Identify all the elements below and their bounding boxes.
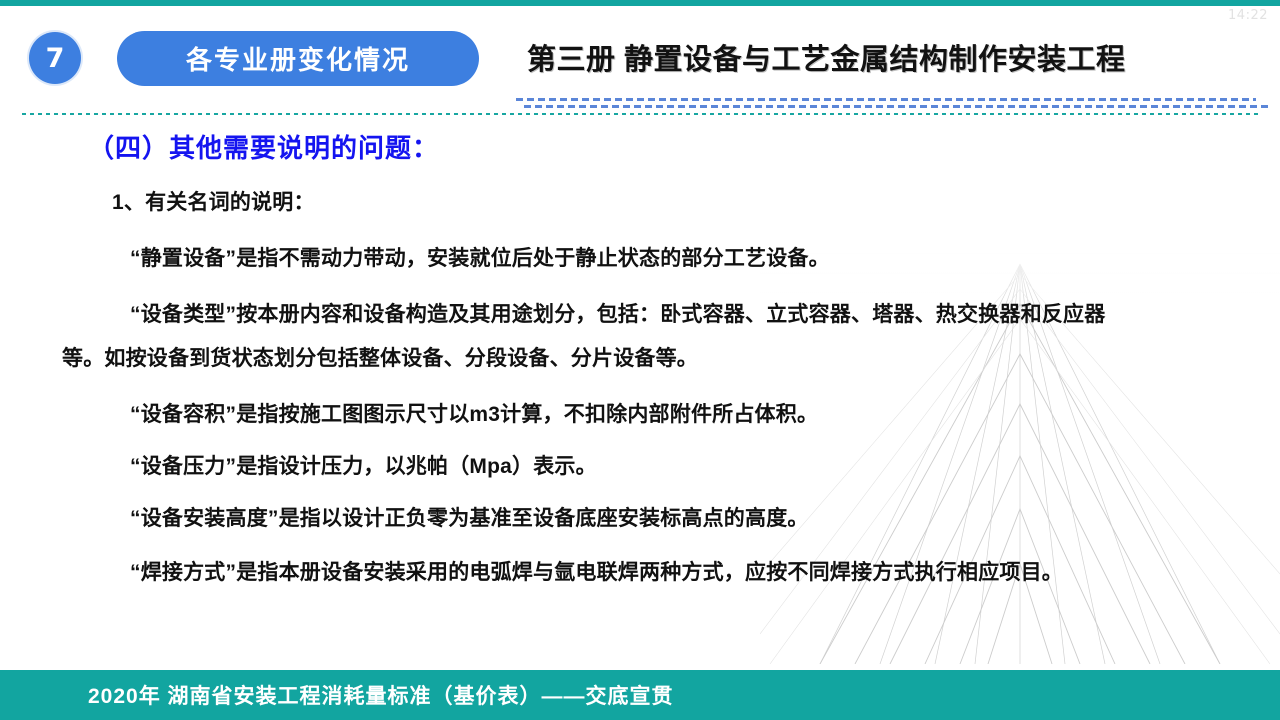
slide-canvas: 14:22 bbox=[0, 0, 1280, 720]
subsection-heading: （四）其他需要说明的问题： bbox=[88, 128, 439, 165]
footer-label: 2020年 湖南省安装工程消耗量标准（基价表）——交底宣贯 bbox=[88, 680, 674, 710]
header-dashed-rule-bottom bbox=[524, 105, 1268, 108]
slide-header: 7 各专业册变化情况 第三册 静置设备与工艺金属结构制作安装工程 bbox=[0, 14, 1280, 94]
body-paragraph: “焊接方式”是指本册设备安装采用的电弧焊与氩电联焊两种方式，应按不同焊接方式执行… bbox=[130, 556, 1063, 586]
body-paragraph: 1、有关名词的说明： bbox=[112, 186, 315, 216]
body-paragraph: “设备安装高度”是指以设计正负零为基准至设备底座安装标高点的高度。 bbox=[130, 502, 809, 532]
page-title: 第三册 静置设备与工艺金属结构制作安装工程 bbox=[527, 36, 1227, 78]
slide-body: （四）其他需要说明的问题： 1、有关名词的说明： “静置设备”是指不需动力带动，… bbox=[0, 110, 1280, 650]
body-paragraph: “设备容积”是指按施工图图示尺寸以m3计算，不扣除内部附件所占体积。 bbox=[130, 398, 818, 428]
header-dashed-rule-top bbox=[516, 98, 1256, 101]
body-paragraph: “设备类型”按本册内容和设备构造及其用途划分，包括：卧式容器、立式容器、塔器、热… bbox=[130, 298, 1105, 328]
body-paragraph: “设备压力”是指设计压力，以兆帕（Mpa）表示。 bbox=[130, 450, 597, 480]
top-accent-strip bbox=[0, 0, 1280, 6]
section-title-label: 各专业册变化情况 bbox=[186, 40, 410, 77]
section-number-label: 7 bbox=[46, 45, 65, 72]
section-number-badge: 7 bbox=[29, 32, 81, 84]
section-title-pill: 各专业册变化情况 bbox=[117, 31, 479, 86]
body-paragraph: 等。如按设备到货状态划分包括整体设备、分段设备、分片设备等。 bbox=[62, 342, 698, 372]
body-paragraph: “静置设备”是指不需动力带动，安装就位后处于静止状态的部分工艺设备。 bbox=[130, 242, 830, 272]
slide-footer: 2020年 湖南省安装工程消耗量标准（基价表）——交底宣贯 bbox=[0, 670, 1280, 720]
